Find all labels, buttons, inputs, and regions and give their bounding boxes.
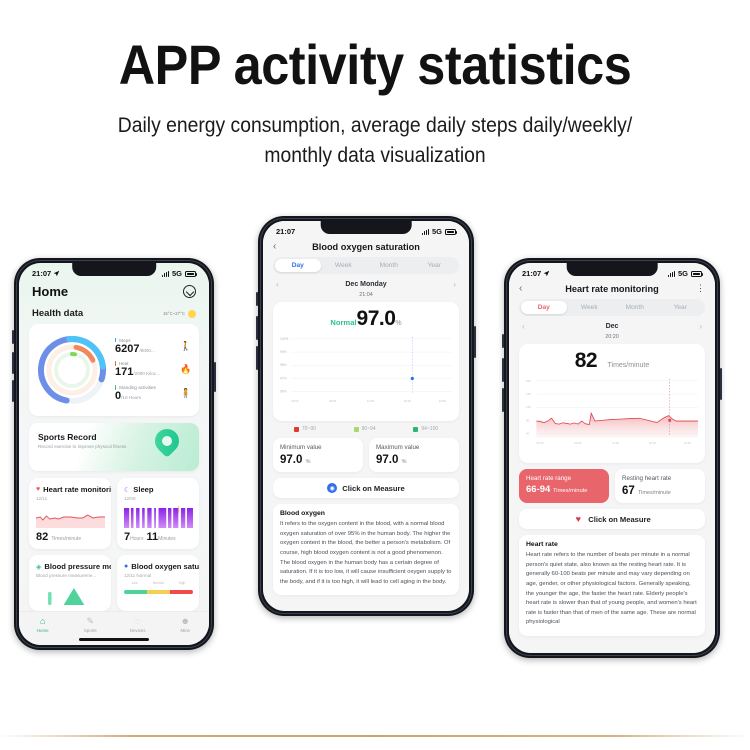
card-blood-oxygen[interactable]: ● Blood oxygen saturation 12/11 Normal L… xyxy=(117,555,199,611)
info-body: It refers to the oxygen content in the b… xyxy=(280,520,452,587)
signal-bars-icon xyxy=(422,229,429,235)
measure-label: Click on Measure xyxy=(588,515,650,524)
card-title: Blood oxygen saturation xyxy=(131,562,199,571)
svg-text:160: 160 xyxy=(526,392,531,396)
info-title: Heart rate xyxy=(526,541,698,548)
bottom-divider xyxy=(0,735,750,737)
range-segmented-control[interactable]: Day Week Month Year xyxy=(519,299,705,316)
walking-icon: 🚶 xyxy=(180,341,191,352)
scan-icon[interactable] xyxy=(183,285,196,298)
min-value-card: Minimum value 97.0 % xyxy=(273,438,363,472)
weather-widget: 16°C~27°C xyxy=(163,310,196,318)
measure-button[interactable]: ♥ Click on Measure xyxy=(519,509,705,529)
stat-unit: Times/minute xyxy=(638,490,671,496)
stat-unit: % xyxy=(402,459,407,465)
home-title: Home xyxy=(32,284,68,299)
svg-text:100%: 100% xyxy=(280,337,288,341)
spo2-reading: Normal97.0% xyxy=(280,307,452,331)
svg-text:98%: 98% xyxy=(280,363,287,367)
sports-record-subtitle: Record exercise to improve physical fitn… xyxy=(38,444,126,449)
tab-mine[interactable]: ☻ Mine xyxy=(162,616,210,633)
svg-text:99%: 99% xyxy=(280,350,287,354)
segment-month[interactable]: Month xyxy=(366,259,412,272)
current-date: Dec xyxy=(606,323,619,330)
svg-text:120: 120 xyxy=(526,405,531,409)
legend-label: 70~90 xyxy=(302,426,316,432)
metric-standing: Standing activities 0/10 Hours 🧍 xyxy=(115,385,191,403)
metric-unit: /2000 Kiloc... xyxy=(133,371,160,376)
range-segmented-control[interactable]: Day Week Month Year xyxy=(273,257,459,274)
tab-label: Devices xyxy=(114,628,162,633)
svg-text:40: 40 xyxy=(526,432,530,436)
svg-text:18:00: 18:00 xyxy=(649,441,657,445)
status-time: 21:07 xyxy=(276,227,295,236)
page-title: APP activity statistics xyxy=(38,36,713,95)
svg-text:00:00: 00:00 xyxy=(291,399,299,403)
segment-day[interactable]: Day xyxy=(275,259,321,272)
card-unit: Hours xyxy=(130,536,143,542)
metric-value: 6207 xyxy=(115,343,139,355)
segment-week[interactable]: Week xyxy=(567,301,613,314)
heart-stats: Heart rate range 66-94 Times/minute Rest… xyxy=(519,469,705,503)
segment-month[interactable]: Month xyxy=(612,301,658,314)
heart-reading: 82 Times/minute xyxy=(526,349,698,373)
svg-text:200: 200 xyxy=(526,379,531,383)
bar-label: High xyxy=(179,581,186,585)
reading-unit: % xyxy=(395,320,401,327)
tab-label: Home xyxy=(19,628,67,633)
card-date: Blood pressure measureme... xyxy=(36,573,105,578)
status-time: 21:07 xyxy=(522,269,541,278)
notch xyxy=(567,263,658,276)
app-bar: ‹ Blood oxygen saturation xyxy=(263,238,469,257)
svg-text:97%: 97% xyxy=(280,376,287,380)
poster-root: APP activity statistics Daily energy con… xyxy=(0,0,750,750)
chevron-left-icon[interactable]: ‹ xyxy=(519,283,529,294)
svg-text:80: 80 xyxy=(526,418,530,422)
reading-time: 20:20 xyxy=(509,334,715,340)
status-badge: Normal xyxy=(330,318,356,327)
bar-label: Normal xyxy=(153,581,164,585)
reading-value: 97.0 xyxy=(357,307,396,330)
status-network: 5G xyxy=(172,269,182,278)
legend-label: 90~94 xyxy=(362,426,376,432)
card-sleep[interactable]: ☾ Sleep 12/09 xyxy=(117,478,199,549)
svg-text:06:00: 06:00 xyxy=(574,441,582,445)
status-network: 5G xyxy=(432,227,442,236)
phone-heart-rate: 21:07 5G ‹ Heart rate monitoring ⋮ Day xyxy=(504,258,720,658)
health-data-title: Health data xyxy=(32,308,83,319)
oxygen-range-bar xyxy=(124,590,193,594)
spo2-legend: 70~90 90~94 94~100 xyxy=(275,426,457,432)
card-blood-pressure[interactable]: ◈ Blood pressure monitoring Blood pressu… xyxy=(29,555,111,611)
battery-icon xyxy=(691,271,702,277)
tab-label: Mine xyxy=(162,628,210,633)
health-data-header: Health data 16°C~27°C xyxy=(19,299,209,324)
spo2-info-card: Blood oxygen It refers to the oxygen con… xyxy=(273,504,459,595)
status-time: 21:07 xyxy=(32,269,51,278)
svg-text:12:00: 12:00 xyxy=(367,399,375,403)
max-value-card: Maximum value 97.0 % xyxy=(369,438,459,472)
sleep-bars xyxy=(124,506,193,528)
stat-label: Maximum value xyxy=(376,444,452,452)
prev-date-button[interactable]: ‹ xyxy=(522,322,525,331)
home-indicator xyxy=(79,638,149,641)
sports-record-title: Sports Record xyxy=(38,432,97,442)
svg-text:06:00: 06:00 xyxy=(329,399,337,403)
metric-unit: /8000... xyxy=(139,348,154,353)
spo2-chart: 100%99%98% 97%96% 00:0006:0 xyxy=(280,331,452,414)
mini-card-grid: ♥ Heart rate monitoring 12/11 82 Times/m… xyxy=(29,478,199,611)
oxygen-icon: ● xyxy=(124,563,128,570)
stat-value: 66-94 xyxy=(526,484,550,495)
metric-value: 171 xyxy=(115,366,133,378)
oxygen-bar-labels: Low Normal High xyxy=(124,581,193,585)
legend-item: 90~94 xyxy=(354,426,376,432)
info-title: Blood oxygen xyxy=(280,510,452,517)
metric-unit: /10 Hours xyxy=(121,395,141,400)
location-pin-icon xyxy=(150,424,184,458)
location-arrow-icon xyxy=(543,270,550,277)
svg-text:18:00: 18:00 xyxy=(404,399,412,403)
card-unit2: Minutes xyxy=(158,536,176,542)
segment-year[interactable]: Year xyxy=(658,301,704,314)
droplet-icon: ◈ xyxy=(36,563,41,571)
stat-label: Minimum value xyxy=(280,444,356,452)
heart-rate-range-card: Heart rate range 66-94 Times/minute xyxy=(519,469,609,503)
person-icon: ☻ xyxy=(162,616,210,627)
tab-label: Sports xyxy=(67,628,115,633)
heart-chart-card: 82 Times/minute 200160120 8040 xyxy=(519,344,705,463)
moon-icon: ☾ xyxy=(124,486,130,494)
hero-section: APP activity statistics Daily energy con… xyxy=(0,0,750,172)
metric-steps: Steps 6207/8000... 🚶 xyxy=(115,338,191,356)
info-body: Heart rate refers to the number of beats… xyxy=(526,551,698,628)
phone-blood-oxygen: 21:07 5G ‹ Blood oxygen saturation Day W… xyxy=(258,216,474,616)
card-title: Sleep xyxy=(133,485,153,494)
spo2-chart-card: Normal97.0% 100%99%98% 97%96% xyxy=(273,302,459,421)
stat-unit: Times/minute xyxy=(553,488,588,494)
card-heart-rate[interactable]: ♥ Heart rate monitoring 12/11 82 Times/m… xyxy=(29,478,111,549)
page-subtitle: Daily energy consumption, average daily … xyxy=(30,111,720,172)
date-navigator: ‹ Dec › xyxy=(509,316,715,331)
sports-record-card[interactable]: Sports Record Record exercise to improve… xyxy=(29,423,199,471)
resting-heart-rate-card: Resting heart rate 67 Times/minute xyxy=(615,469,705,503)
standing-icon: 🧍 xyxy=(180,388,191,399)
stat-value: 97.0 xyxy=(280,454,302,466)
date-navigator: ‹ Dec Monday › xyxy=(263,274,469,289)
sports-icon: ✎ xyxy=(67,616,115,627)
legend-label: 94~100 xyxy=(421,426,438,432)
current-date: Dec Monday xyxy=(345,281,386,288)
screen-title: Blood oxygen saturation xyxy=(283,242,449,252)
tab-devices[interactable]: ◌ Devices xyxy=(114,616,162,633)
sun-icon xyxy=(188,310,196,318)
next-date-button[interactable]: › xyxy=(453,280,456,289)
health-rings-card[interactable]: Steps 6207/8000... 🚶 Heat 171/2000 Kiloc… xyxy=(29,324,199,416)
card-value2: 11 xyxy=(147,531,159,543)
notch xyxy=(321,221,412,234)
reading-value: 82 xyxy=(575,349,597,372)
battery-icon xyxy=(185,271,196,277)
measure-button[interactable]: ◉ Click on Measure xyxy=(273,478,459,498)
next-date-button[interactable]: › xyxy=(699,322,702,331)
oxygen-icon: ◉ xyxy=(327,483,337,493)
heart-icon: ♥ xyxy=(573,514,583,524)
stat-label: Resting heart rate xyxy=(622,475,698,483)
heart-icon: ♥ xyxy=(36,486,40,493)
segment-day[interactable]: Day xyxy=(521,301,567,314)
spo2-stats: Minimum value 97.0 % Maximum value 97.0 … xyxy=(273,438,459,472)
card-title: Heart rate monitoring xyxy=(43,485,111,494)
heart-info-card: Heart rate Heart rate refers to the numb… xyxy=(519,535,705,636)
metric-heat: Heat 171/2000 Kiloc... 🔥 xyxy=(115,361,191,379)
status-network: 5G xyxy=(678,269,688,278)
flame-icon: 🔥 xyxy=(180,364,191,375)
signal-bars-icon xyxy=(162,271,169,277)
segment-week[interactable]: Week xyxy=(321,259,367,272)
card-title: Blood pressure monitoring xyxy=(44,562,111,571)
card-date: 12/09 xyxy=(124,496,193,501)
reading-unit: Times/minute xyxy=(608,362,650,369)
battery-icon xyxy=(445,229,456,235)
heart-rate-chart: 200160120 8040 xyxy=(526,373,698,456)
screen-title: Heart rate monitoring xyxy=(529,284,695,294)
card-value: 82 xyxy=(36,531,48,543)
home-header: Home xyxy=(19,280,209,299)
watch-icon: ◌ xyxy=(114,616,162,627)
card-date: 12/11 xyxy=(36,496,105,501)
stat-value: 97.0 xyxy=(376,454,398,466)
card-date: 12/11 Normal xyxy=(124,573,193,578)
app-bar: ‹ Heart rate monitoring ⋮ xyxy=(509,280,715,299)
notch xyxy=(72,263,156,276)
heart-rate-sparkline xyxy=(36,506,105,528)
stat-unit: % xyxy=(306,459,311,465)
tab-home[interactable]: ⌂ Home xyxy=(19,616,67,633)
svg-text:96%: 96% xyxy=(280,390,287,394)
svg-text:00:00: 00:00 xyxy=(536,441,544,445)
svg-text:24:00: 24:00 xyxy=(439,399,447,403)
prev-date-button[interactable]: ‹ xyxy=(276,280,279,289)
legend-item: 70~90 xyxy=(294,426,316,432)
location-arrow-icon xyxy=(53,270,60,277)
svg-text:12:00: 12:00 xyxy=(612,441,620,445)
stat-value: 67 xyxy=(622,485,635,497)
signal-bars-icon xyxy=(668,271,675,277)
stat-label: Heart rate range xyxy=(526,475,602,482)
bar-label: Low xyxy=(132,581,138,585)
legend-item: 94~100 xyxy=(413,426,438,432)
measure-label: Click on Measure xyxy=(342,484,404,493)
home-icon: ⌂ xyxy=(19,616,67,627)
activity-rings xyxy=(35,333,109,407)
weather-temp: 16°C~27°C xyxy=(163,311,185,316)
card-unit: Times/minute xyxy=(51,536,81,542)
phone-home: 21:07 5G Home Health data xyxy=(14,258,214,650)
tab-sports[interactable]: ✎ Sports xyxy=(67,616,115,633)
more-vertical-icon[interactable]: ⋮ xyxy=(695,283,705,294)
svg-text:24:00: 24:00 xyxy=(684,441,692,445)
reading-time: 21:04 xyxy=(263,292,469,298)
blood-pressure-chart xyxy=(36,583,105,605)
chevron-left-icon[interactable]: ‹ xyxy=(273,241,283,252)
segment-year[interactable]: Year xyxy=(412,259,458,272)
